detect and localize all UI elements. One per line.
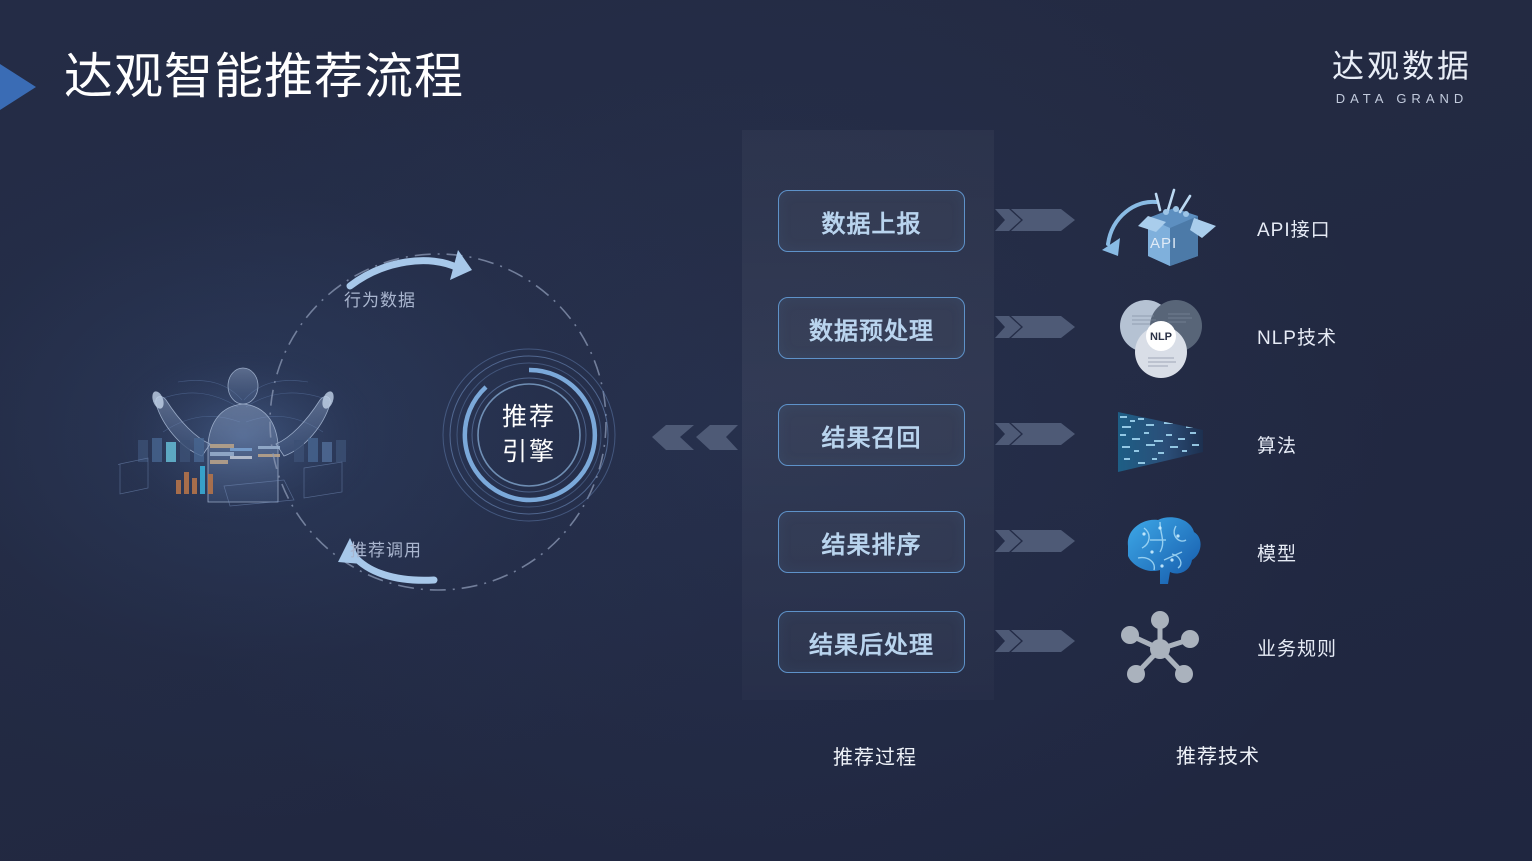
logo-chinese-text: 达观数据 — [1332, 46, 1472, 86]
step-to-tech-arrow-1 — [995, 209, 1075, 231]
tech-label-5: 业务规则 — [1257, 634, 1337, 661]
tech-label-1: API接口 — [1257, 215, 1331, 242]
tech-label-3: 算法 — [1257, 431, 1297, 458]
process-column-caption: 推荐过程 — [833, 741, 917, 770]
nlp-venn-icon: NLP — [1098, 292, 1223, 382]
technology-column-caption: 推荐技术 — [1176, 740, 1260, 769]
engine-feedback-arrow — [652, 425, 738, 450]
process-step-box-2[interactable]: 数据预处理 — [778, 297, 965, 359]
cycle-label-recommendation-call: 推荐调用 — [350, 536, 422, 561]
network-hub-icon — [1098, 604, 1223, 694]
process-step-box-4[interactable]: 结果排序 — [778, 511, 965, 573]
step-to-tech-arrow-3 — [995, 423, 1075, 445]
title-marker-triangle — [0, 55, 36, 119]
algorithm-matrix-icon — [1098, 396, 1223, 486]
step-to-tech-arrow-4 — [995, 530, 1075, 552]
process-step-box-1[interactable]: 数据上报 — [778, 190, 965, 252]
api-box-icon: API — [1098, 182, 1223, 272]
step-to-tech-arrow-2 — [995, 316, 1075, 338]
brand-logo: 达观数据 DATA GRAND — [1332, 46, 1472, 109]
svg-text:NLP: NLP — [1150, 331, 1172, 343]
brain-model-icon — [1098, 504, 1223, 594]
page-title: 达观智能推荐流程 — [64, 46, 464, 108]
process-step-box-3[interactable]: 结果召回 — [778, 404, 965, 466]
cycle-label-behavior-data: 行为数据 — [344, 286, 416, 311]
engine-label-line1: 推荐 — [502, 400, 556, 435]
tech-label-4: 模型 — [1257, 539, 1297, 566]
recommendation-engine-label: 推荐 引擎 — [440, 346, 618, 524]
process-step-box-5[interactable]: 结果后处理 — [778, 611, 965, 673]
logo-english-text: DATA GRAND — [1332, 89, 1472, 109]
step-to-tech-arrow-5 — [995, 630, 1075, 652]
tech-label-2: NLP技术 — [1257, 323, 1337, 350]
engine-label-line2: 引擎 — [502, 435, 556, 470]
behavior-data-arrow — [350, 261, 458, 286]
svg-text:API: API — [1150, 235, 1177, 252]
